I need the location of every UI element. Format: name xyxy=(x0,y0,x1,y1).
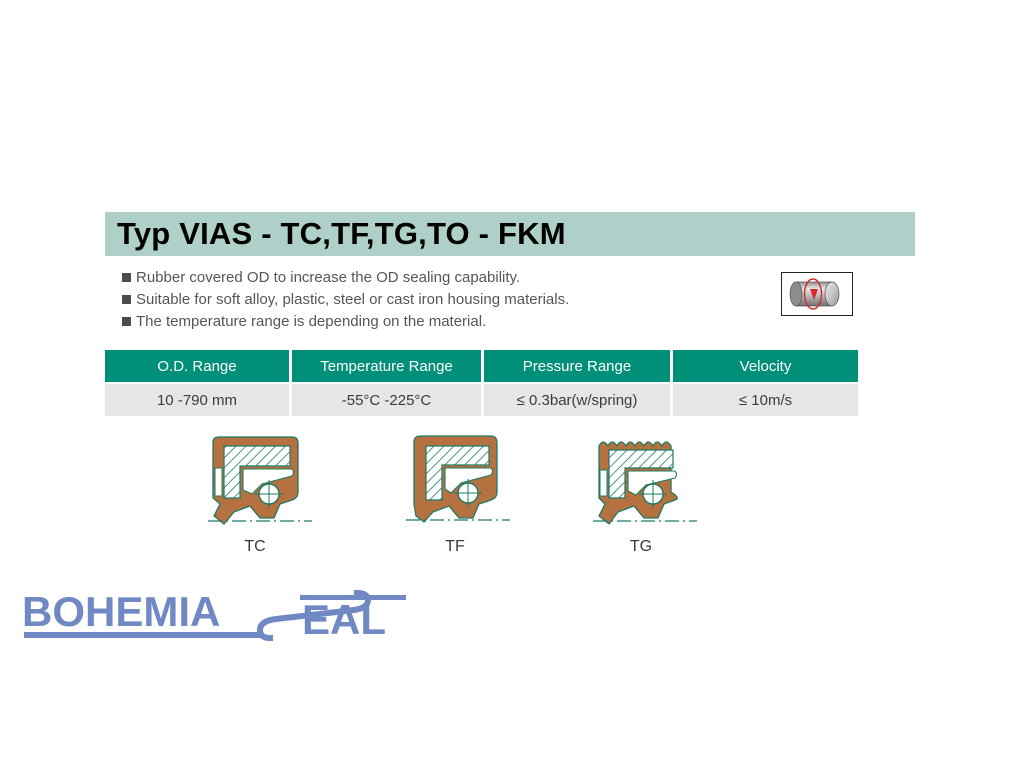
value-velocity: ≤ 10m/s xyxy=(670,384,858,416)
value-pressure-range: ≤ 0.3bar(w/spring) xyxy=(481,384,670,416)
value-temperature-range: -55°C -225°C xyxy=(289,384,481,416)
logo-text-eal: EAL xyxy=(302,596,386,643)
feature-text: Suitable for soft alloy, plastic, steel … xyxy=(136,290,569,309)
square-bullet-icon xyxy=(122,317,131,326)
value-od-range: 10 -790 mm xyxy=(105,384,289,416)
seal-cross-section-tg xyxy=(585,432,705,542)
rotating-shaft-icon-box xyxy=(781,272,853,316)
datasheet-page: Typ VIAS - TC,TF,TG,TO - FKM Rubber cove… xyxy=(0,0,1024,768)
rotating-shaft-icon xyxy=(782,273,851,314)
brand-logo: BOHEMIA EAL xyxy=(14,586,414,646)
table-row: 10 -790 mm -55°C -225°C ≤ 0.3bar(w/sprin… xyxy=(105,384,858,416)
table-header-row: O.D. Range Temperature Range Pressure Ra… xyxy=(105,350,858,382)
logo-text-bohemia: BOHEMIA xyxy=(22,588,220,635)
seal-label-tg: TG xyxy=(581,538,701,556)
seal-cross-section-tc xyxy=(200,432,320,542)
feature-text: The temperature range is depending on th… xyxy=(136,312,486,331)
column-header-od-range: O.D. Range xyxy=(105,350,289,382)
square-bullet-icon xyxy=(122,295,131,304)
column-header-temperature-range: Temperature Range xyxy=(289,350,481,382)
feature-list: Rubber covered OD to increase the OD sea… xyxy=(122,268,742,334)
column-header-velocity: Velocity xyxy=(670,350,858,382)
seal-label-tc: TC xyxy=(195,538,315,556)
square-bullet-icon xyxy=(122,273,131,282)
page-title: Typ VIAS - TC,TF,TG,TO - FKM xyxy=(105,216,566,252)
list-item: Suitable for soft alloy, plastic, steel … xyxy=(122,290,742,311)
specification-table: O.D. Range Temperature Range Pressure Ra… xyxy=(105,350,858,416)
list-item: Rubber covered OD to increase the OD sea… xyxy=(122,268,742,289)
logo-underline xyxy=(24,632,262,638)
list-item: The temperature range is depending on th… xyxy=(122,312,742,333)
title-banner: Typ VIAS - TC,TF,TG,TO - FKM xyxy=(105,212,915,256)
seal-label-tf: TF xyxy=(395,538,515,556)
seal-cross-section-tf xyxy=(398,432,518,542)
feature-text: Rubber covered OD to increase the OD sea… xyxy=(136,268,520,287)
column-header-pressure-range: Pressure Range xyxy=(481,350,670,382)
